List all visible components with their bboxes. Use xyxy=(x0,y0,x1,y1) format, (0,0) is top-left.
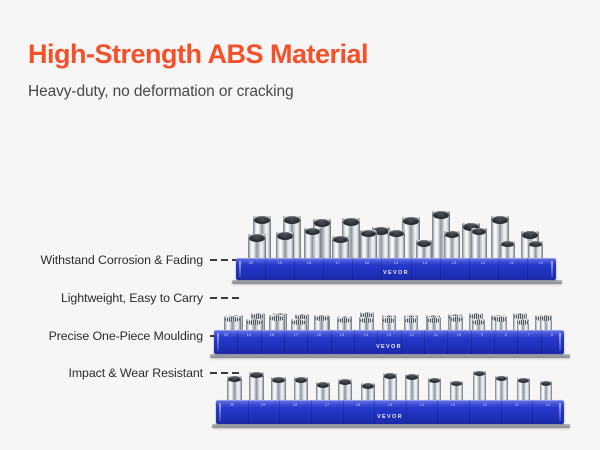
rail-slot-divider xyxy=(381,258,382,280)
brand-logo-vevor: VEVOR xyxy=(236,270,556,276)
rack-rail: 20191817161514131211109876VEVOR xyxy=(214,330,564,354)
rack-rail: 2019181716151413121110VEVOR xyxy=(216,400,564,424)
rail-size-number: 18 xyxy=(270,333,274,337)
rail-size-number: 15 xyxy=(388,403,392,407)
brand-logo-vevor: VEVOR xyxy=(216,414,564,420)
rack-base-plate xyxy=(212,424,570,428)
socket-bore xyxy=(333,236,348,243)
rail-slot-divider xyxy=(323,258,324,280)
rail-size-number: 8 xyxy=(505,333,507,337)
socket-bore xyxy=(249,234,265,242)
socket-bore xyxy=(362,383,374,389)
rail-slot-divider xyxy=(440,258,441,280)
rail-slot-divider xyxy=(331,330,332,354)
socket-bore xyxy=(284,216,300,224)
rail-size-number: 11 xyxy=(434,333,438,337)
rail-slot-divider xyxy=(469,400,470,424)
brand-logo-vevor: VEVOR xyxy=(214,344,564,350)
socket-bore xyxy=(406,374,418,380)
rail-size-number: 12 xyxy=(410,333,414,337)
rail-size-number: 14 xyxy=(364,333,368,337)
rail-slot-divider xyxy=(532,400,533,424)
rail-slot-divider xyxy=(284,330,285,354)
rail-size-number: 17 xyxy=(336,261,340,265)
rail-size-number: 20 xyxy=(224,333,228,337)
rail-slot-divider xyxy=(471,330,472,354)
socket-knurled-top xyxy=(495,317,506,322)
rack-base-plate xyxy=(232,280,562,284)
rail-slot-divider xyxy=(279,400,280,424)
socket-knurled-top xyxy=(517,320,528,325)
rail-size-number: 9 xyxy=(481,333,483,337)
socket-bore xyxy=(343,218,359,226)
socket-bore xyxy=(403,217,419,225)
rail-size-number: 16 xyxy=(317,333,321,337)
rail-size-number: 7 xyxy=(528,333,530,337)
socket-knurled-top xyxy=(540,316,551,321)
rail-slot-divider xyxy=(354,330,355,354)
socket-bore xyxy=(417,240,431,247)
rail-size-number: 12 xyxy=(481,261,485,265)
socket-bore xyxy=(254,216,270,224)
rail-size-number: 18 xyxy=(307,261,311,265)
rail-size-number: 13 xyxy=(451,403,455,407)
rail-slot-divider xyxy=(406,400,407,424)
rail-size-number: 10 xyxy=(539,261,543,265)
socket-bore xyxy=(272,377,285,383)
rail-slot-divider xyxy=(237,330,238,354)
rail-slot-divider xyxy=(498,258,499,280)
socket-bore xyxy=(317,382,329,388)
rail-size-number: 13 xyxy=(387,333,391,337)
socket-bore xyxy=(445,231,459,238)
socket-bore xyxy=(472,228,486,235)
rail-slot-divider xyxy=(447,330,448,354)
product-image-socket-rack: 2019181716151413121110VEVOR2019181716151… xyxy=(0,0,600,450)
rail-size-number: 13 xyxy=(452,261,456,265)
rail-size-number: 20 xyxy=(249,261,253,265)
rail-size-number: 10 xyxy=(546,403,550,407)
rail-slot-divider xyxy=(541,330,542,354)
rail-slot-divider xyxy=(424,330,425,354)
rail-size-number: 16 xyxy=(356,403,360,407)
socket-bore xyxy=(492,216,508,224)
rail-slot-divider xyxy=(307,330,308,354)
rail-slot-divider xyxy=(311,400,312,424)
rail-slot-divider xyxy=(494,330,495,354)
product-feature-banner: High-Strength ABS Material Heavy-duty, n… xyxy=(0,0,600,450)
rail-size-number: 6 xyxy=(551,333,553,337)
rail-size-number: 16 xyxy=(365,261,369,265)
rail-slot-divider xyxy=(517,330,518,354)
socket-bore xyxy=(529,241,542,247)
rail-slot-divider xyxy=(377,330,378,354)
rail-slot-divider xyxy=(261,330,262,354)
rail-slot-divider xyxy=(248,400,249,424)
rail-size-number: 17 xyxy=(325,403,329,407)
rail-slot-divider xyxy=(501,400,502,424)
rail-size-number: 14 xyxy=(420,403,424,407)
rail-size-number: 15 xyxy=(340,333,344,337)
socket-bore xyxy=(522,231,538,239)
rail-slot-divider xyxy=(374,400,375,424)
rack-rail: 2019181716151413121110VEVOR xyxy=(236,258,556,280)
rail-size-number: 15 xyxy=(394,261,398,265)
rail-size-number: 17 xyxy=(294,333,298,337)
rack-base-plate xyxy=(210,354,570,358)
rail-size-number: 14 xyxy=(423,261,427,265)
socket-bore xyxy=(228,376,241,382)
rail-size-number: 12 xyxy=(483,403,487,407)
socket-bore xyxy=(501,241,514,247)
rail-size-number: 19 xyxy=(261,403,265,407)
socket-bore xyxy=(433,211,449,219)
socket-bore xyxy=(361,230,376,237)
rail-size-number: 11 xyxy=(510,261,514,265)
socket-bore xyxy=(384,373,396,379)
socket-bore xyxy=(314,219,330,227)
rail-size-number: 19 xyxy=(247,333,251,337)
socket-bore xyxy=(305,228,320,235)
rail-slot-divider xyxy=(437,400,438,424)
rail-size-number: 18 xyxy=(293,403,297,407)
rail-size-number: 19 xyxy=(278,261,282,265)
rail-slot-divider xyxy=(527,258,528,280)
socket-bore xyxy=(277,232,293,240)
rail-slot-divider xyxy=(401,330,402,354)
rail-size-number: 10 xyxy=(457,333,461,337)
socket-bore xyxy=(339,379,351,385)
socket-bore xyxy=(389,230,404,237)
rail-slot-divider xyxy=(294,258,295,280)
rail-slot-divider xyxy=(469,258,470,280)
rail-slot-divider xyxy=(411,258,412,280)
rail-size-number: 11 xyxy=(515,403,519,407)
socket-bore xyxy=(250,372,263,378)
rail-slot-divider xyxy=(352,258,353,280)
socket-bore xyxy=(295,377,307,383)
rail-slot-divider xyxy=(343,400,344,424)
rail-slot-divider xyxy=(265,258,266,280)
rail-size-number: 20 xyxy=(230,403,234,407)
